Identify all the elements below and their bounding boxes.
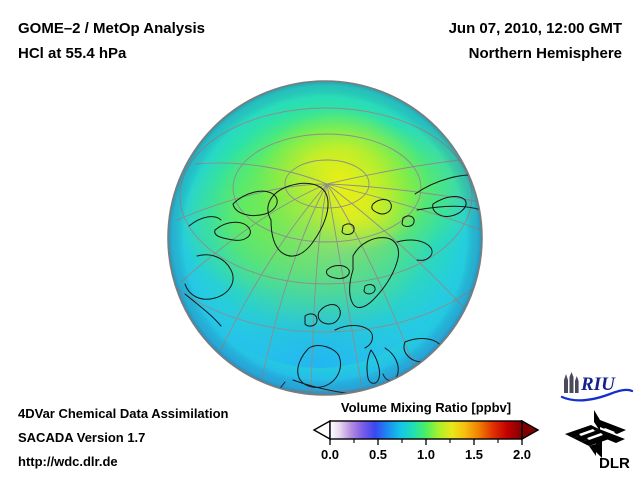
colorbar-major-ticks (330, 439, 522, 445)
riu-logo: RIU (560, 371, 634, 403)
version-label: SACADA Version 1.7 (18, 426, 229, 450)
footer-credits: 4DVar Chemical Data Assimilation SACADA … (18, 402, 229, 474)
dlr-logo: DLR (563, 408, 635, 470)
dlr-wing-icon (565, 410, 626, 458)
colorbar-tick-labels: 0.0 0.5 1.0 1.5 2.0 (310, 447, 542, 465)
colorbar-tick-3: 1.5 (465, 447, 483, 462)
colorbar-extend-min (314, 421, 330, 439)
colorbar-title: Volume Mixing Ratio [ppbv] (310, 400, 542, 415)
timestamp-label: Jun 07, 2010, 12:00 GMT (449, 16, 622, 41)
colorbar-scale (310, 420, 542, 446)
header-right-block: Jun 07, 2010, 12:00 GMT Northern Hemisph… (449, 16, 622, 66)
colorbar-gradient (330, 421, 522, 439)
visualization-page: GOME–2 / MetOp Analysis HCl at 55.4 hPa … (0, 0, 640, 480)
riu-towers-icon (564, 372, 579, 393)
globe-map (167, 80, 483, 396)
assimilation-label: 4DVar Chemical Data Assimilation (18, 402, 229, 426)
dlr-wordmark: DLR (599, 455, 630, 470)
header-left-block: GOME–2 / MetOp Analysis HCl at 55.4 hPa (18, 16, 205, 66)
colorbar-tick-0: 0.0 (321, 447, 339, 462)
riu-wordmark: RIU (580, 374, 616, 395)
globe-limb-shading (168, 81, 482, 395)
colorbar-tick-1: 0.5 (369, 447, 387, 462)
colorbar-tick-2: 1.0 (417, 447, 435, 462)
species-level-label: HCl at 55.4 hPa (18, 41, 205, 66)
hemisphere-label: Northern Hemisphere (449, 41, 622, 66)
page-title: GOME–2 / MetOp Analysis (18, 16, 205, 41)
colorbar-extend-max (522, 421, 538, 439)
colorbar: Volume Mixing Ratio [ppbv] (310, 400, 542, 465)
source-url[interactable]: http://wdc.dlr.de (18, 450, 229, 474)
colorbar-tick-4: 2.0 (513, 447, 531, 462)
